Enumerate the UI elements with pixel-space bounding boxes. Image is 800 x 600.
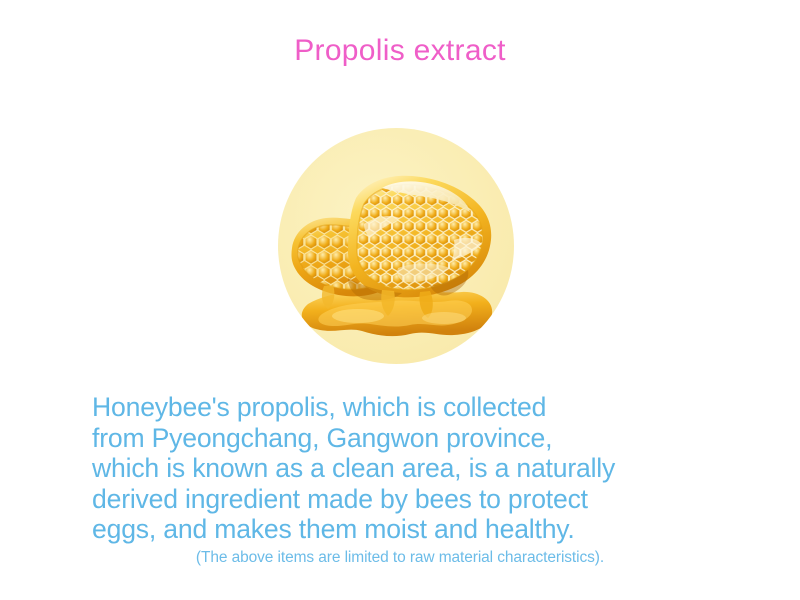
product-description-card: Propolis extract <box>0 0 800 600</box>
honeycomb-icon <box>278 128 514 364</box>
product-image <box>278 128 514 364</box>
description-text: Honeybee's propolis, which is collected … <box>92 392 772 545</box>
page-title: Propolis extract <box>0 32 800 70</box>
footnote-text: (The above items are limited to raw mate… <box>0 548 800 567</box>
